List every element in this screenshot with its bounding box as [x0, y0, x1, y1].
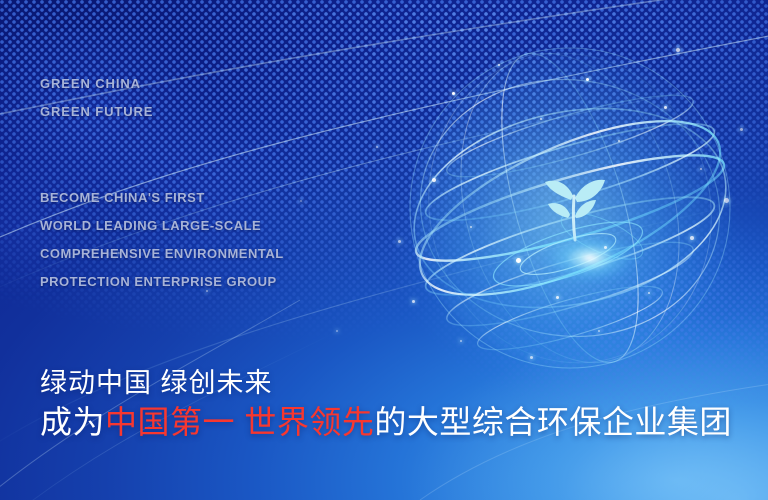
green-china-banner: GREEN CHINA GREEN FUTURE BECOME CHINA'S …: [0, 0, 768, 500]
tagline-top-line-2: GREEN FUTURE: [40, 98, 153, 126]
wireframe-globe: [392, 40, 752, 380]
tagline-mid-line-1: BECOME CHINA'S FIRST: [40, 184, 284, 212]
headline: 绿动中国 绿创未来 成为中国第一 世界领先的大型综合环保企业集团: [40, 365, 732, 443]
tagline-mid: BECOME CHINA'S FIRST WORLD LEADING LARGE…: [40, 184, 284, 296]
globe-core-light-burst: [542, 232, 638, 284]
tagline-top: GREEN CHINA GREEN FUTURE: [40, 70, 153, 126]
headline-line-2-prefix: 成为: [40, 404, 105, 440]
tagline-mid-line-2: WORLD LEADING LARGE-SCALE: [40, 212, 284, 240]
tagline-top-line-1: GREEN CHINA: [40, 70, 153, 98]
headline-line-2-suffix: 的大型综合环保企业集团: [374, 404, 732, 440]
headline-line-1: 绿动中国 绿创未来: [40, 365, 732, 401]
tagline-mid-line-3: COMPREHENSIVE ENVIRONMENTAL: [40, 240, 284, 268]
headline-line-2-highlight: 中国第一 世界领先: [105, 404, 374, 440]
tagline-mid-line-4: PROTECTION ENTERPRISE GROUP: [40, 268, 284, 296]
headline-line-2: 成为中国第一 世界领先的大型综合环保企业集团: [40, 401, 732, 443]
